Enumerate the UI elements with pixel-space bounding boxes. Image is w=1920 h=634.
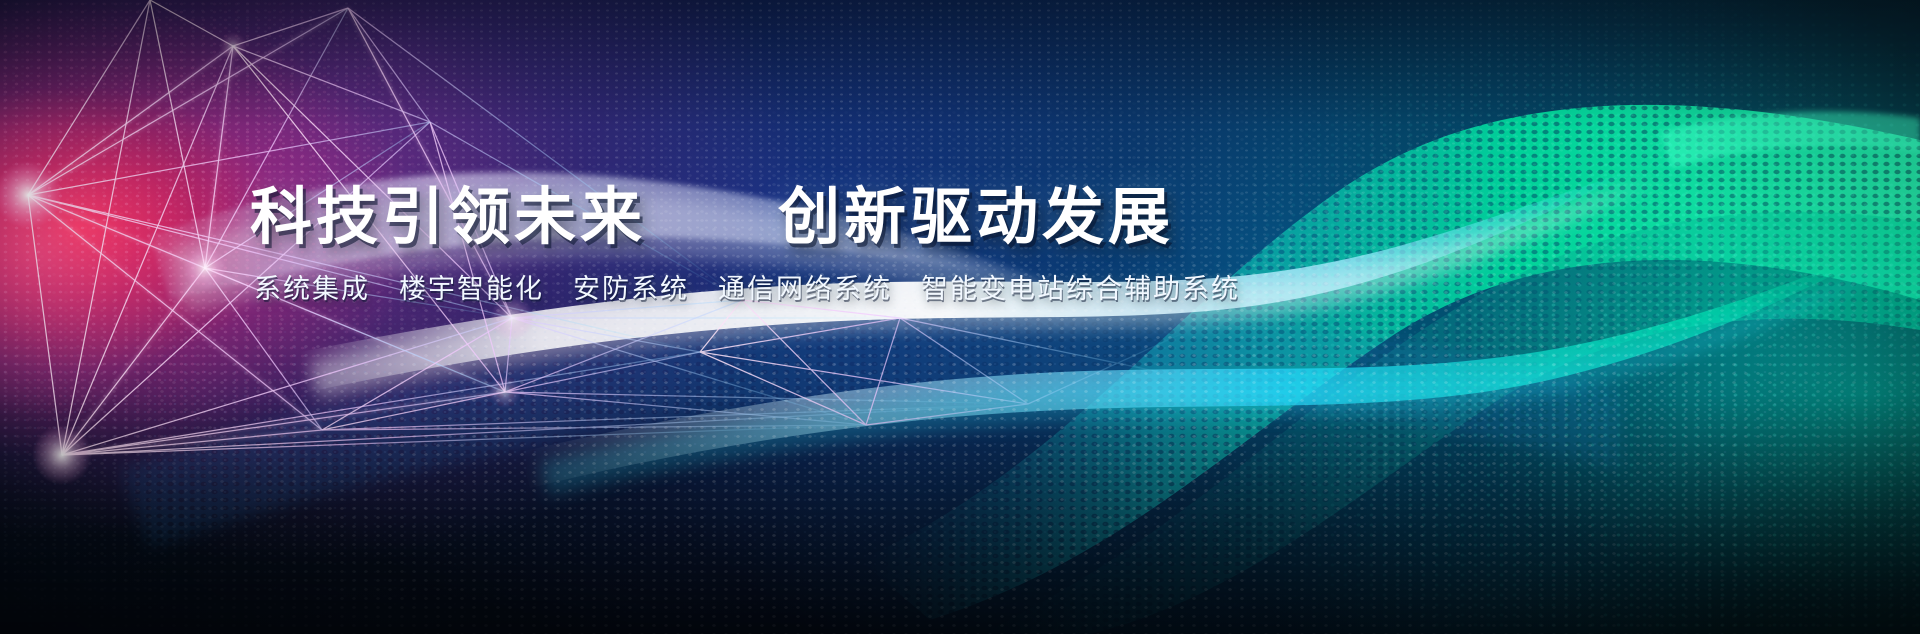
teal-glow [0,0,1920,634]
banner-subheadline: 系统集成 楼宇智能化 安防系统 通信网络系统 智能变电站综合辅助系统 [254,275,1590,305]
halftone-dots-top [0,0,1920,634]
magenta-glow [0,0,1920,634]
background-gradient [0,0,1920,634]
halftone-dots-left [0,0,1920,634]
vignette-overlay [0,0,1920,634]
hero-banner: 科技引领未来 创新驱动发展 系统集成 楼宇智能化 安防系统 通信网络系统 智能变… [0,0,1920,634]
network-wireframe [0,0,1920,634]
banner-headline: 科技引领未来 创新驱动发展 [250,186,1590,249]
halftone-dots-mid [0,0,1920,634]
teal-accent-streak [1660,111,1920,168]
blue-halftone-arc [120,312,1620,548]
banner-copy: 科技引领未来 创新驱动发展 系统集成 楼宇智能化 安防系统 通信网络系统 智能变… [250,186,1590,305]
halftone-dots-bottom [0,0,1920,634]
halftone-dots-right [0,0,1920,634]
wave-artwork [0,0,1920,634]
